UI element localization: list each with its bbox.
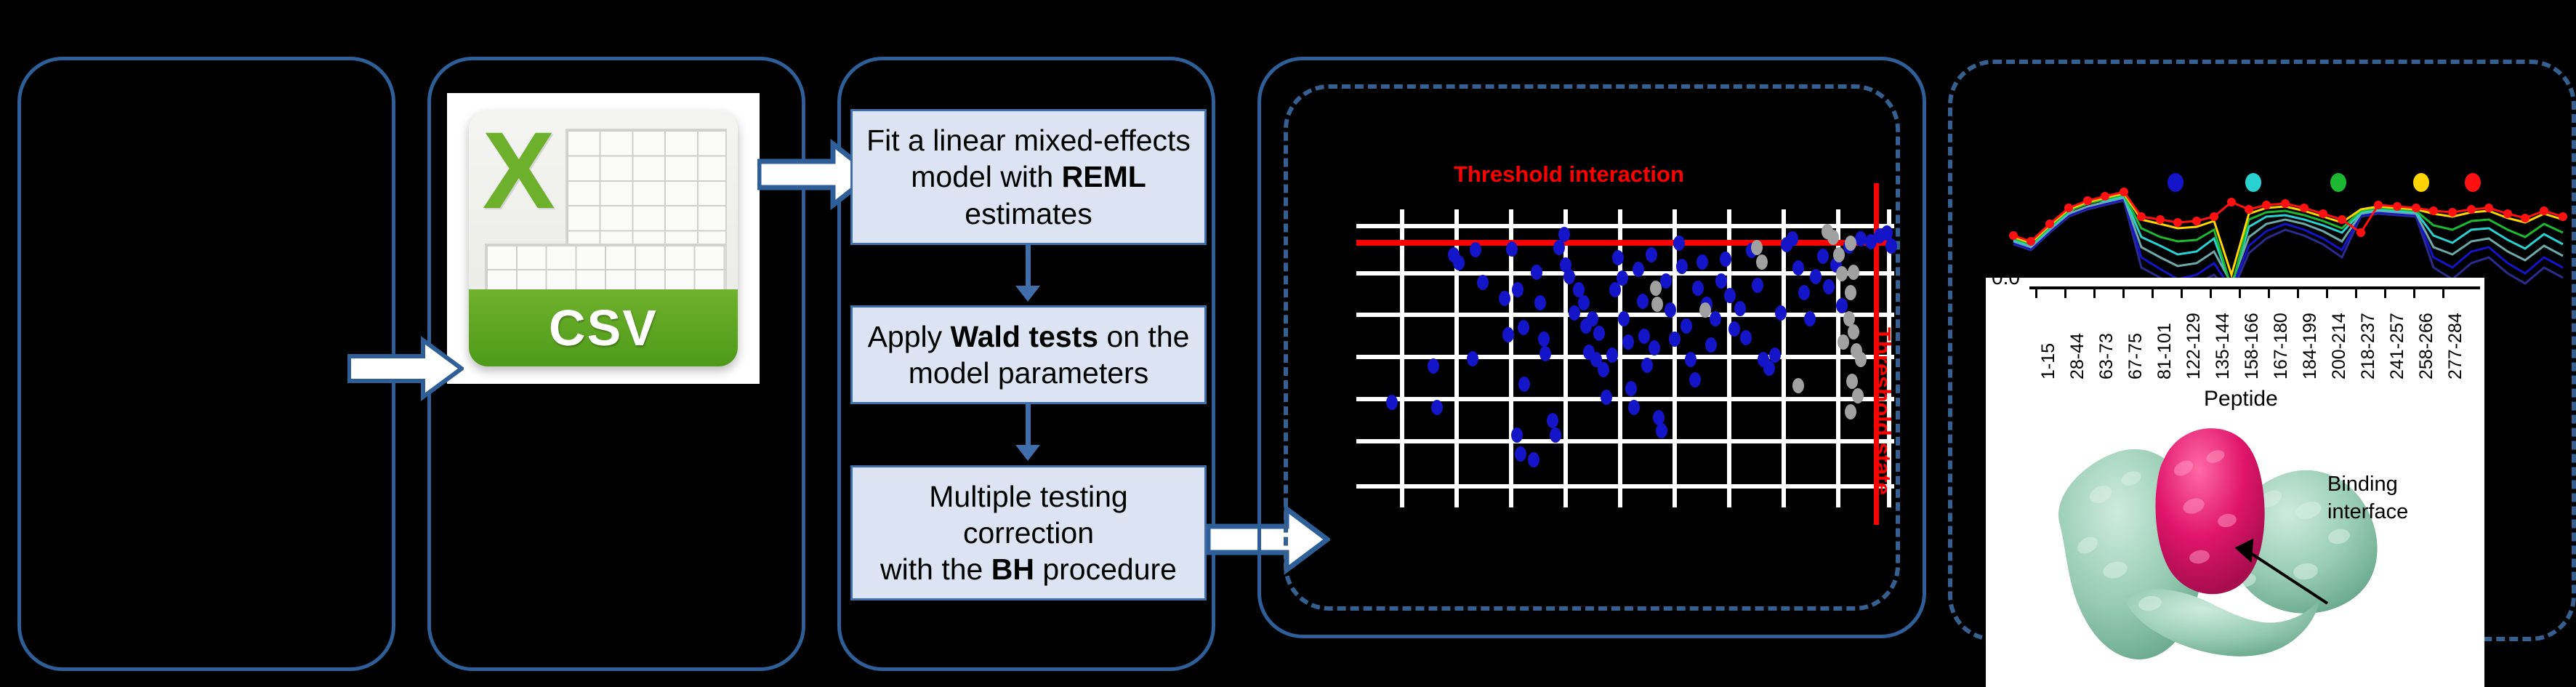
scatter-plot [1356,209,1894,507]
data-point [1477,275,1489,290]
data-point [1660,273,1672,289]
data-point [1470,242,1481,257]
legend-dot-yellow [2413,173,2429,192]
data-point [1518,377,1530,392]
csv-label-band: CSV [469,289,738,366]
data-point-grey [1845,285,1856,300]
data-point [1715,273,1727,289]
data-point-grey [1845,236,1856,251]
legend-dot-green [2330,173,2346,192]
data-point [1637,294,1649,309]
ligand-surface [2156,428,2265,594]
x-axis-tick [2152,288,2154,298]
data-point [1539,346,1551,361]
data-point [1431,400,1443,415]
x-axis-tick-label: 28-44 [2067,333,2088,379]
x-axis-tick-label: 241-257 [2387,313,2408,379]
step-wald-text-b: Wald tests [951,320,1099,353]
data-point [1817,249,1829,264]
x-axis-tick-label: 135-144 [2213,313,2234,379]
threshold-interaction-line [1356,240,1894,246]
data-point [1428,358,1439,374]
scatter-gridlines [1356,209,1894,507]
data-point [1681,318,1692,334]
data-point [1618,311,1630,326]
data-point [1885,238,1897,254]
step-bh-text-c: BH [991,553,1034,586]
data-point [1511,427,1523,443]
data-point [1453,255,1465,270]
data-point [1720,252,1731,267]
data-point [1512,282,1524,297]
data-point [1740,330,1752,345]
data-point [1685,352,1696,367]
gridline-v [1400,209,1404,507]
data-point [1641,358,1653,373]
data-point [1569,305,1580,321]
data-point [1676,259,1688,274]
x-axis-tick [2297,288,2299,298]
data-point-grey [1845,404,1856,419]
csv-caption: CSV [549,299,658,357]
panel-input-empty [17,57,395,671]
x-axis-tick-label: 200-214 [2329,313,2350,379]
data-point [1705,337,1717,353]
data-point [1673,236,1685,251]
gridline-h [1356,355,1894,359]
data-point [1728,321,1740,337]
data-point [1752,278,1763,293]
data-point [1550,427,1561,443]
series-cyan [2013,196,2563,286]
data-point [1538,332,1550,347]
x-axis-tick [2413,288,2415,298]
step-bh-text: Multiple testing correction with the BH … [860,478,1197,587]
data-point [1612,250,1624,265]
data-point [1810,269,1822,284]
legend-dot-cyan [2245,173,2261,192]
data-point [1665,302,1676,318]
gridline-v [1782,209,1786,507]
data-point [1649,340,1660,355]
data-point [1386,395,1398,410]
data-point-grey [1651,297,1663,312]
legend-dot-red [2465,173,2481,192]
data-point [1534,295,1546,310]
data-point-grey [1699,302,1711,318]
x-axis-tick-label: 158-166 [2242,313,2263,379]
x-axis-tick-label: 81-101 [2154,323,2175,379]
data-point [1499,291,1510,306]
data-point [1518,320,1529,335]
data-point [1531,265,1542,280]
data-point [1787,231,1798,246]
data-point [1724,288,1736,303]
data-point [1689,372,1701,387]
data-point [1769,347,1781,363]
data-point [1823,279,1835,294]
connector-model-to-wald [1026,245,1031,290]
x-axis-tick [2384,288,2386,298]
data-point [1502,327,1514,342]
data-point-grey [1855,352,1867,367]
data-point [1598,362,1609,377]
x-axis-tick [2122,288,2125,298]
x-axis-tick [2355,288,2357,298]
x-axis-tick-label: 122-129 [2183,313,2205,379]
data-point-grey [1792,378,1804,393]
data-point [1763,361,1775,376]
csv-file-icon: X CSV [447,93,760,384]
peptide-protein-card: 0.0 1-1528-4463-7367-7581-101122-129135-… [1986,278,2484,687]
data-point [1553,240,1565,255]
data-point-grey [1846,374,1858,389]
step-model-text-c: estimates [965,197,1092,230]
gridline-h [1356,224,1894,228]
data-point [1625,381,1637,396]
data-point-grey [1848,324,1859,340]
step-bh-text-a: Multiple testing correction [929,480,1127,550]
gridline-h [1356,484,1894,489]
connector-model-to-wald-arrowhead [1015,286,1040,302]
data-point [1734,301,1746,316]
x-axis-title: Peptide [2204,387,2278,411]
data-point [1601,390,1612,405]
step-model-text-b: REML [1062,160,1146,193]
data-point-grey [1827,230,1839,245]
data-point [1563,269,1575,284]
x-axis-tick-label: 63-73 [2096,333,2117,379]
data-point [1646,247,1657,262]
step-wald-text: Apply Wald tests on the model parameters [860,318,1197,391]
x-axis-tick [2210,288,2212,298]
x-axis-tick-label: 184-199 [2300,313,2321,379]
data-point [1692,281,1704,296]
scatter-threshold-interaction-label: Threshold interaction [1454,161,1684,188]
x-axis-tick-label: 1-15 [2038,343,2059,379]
data-point [1804,311,1816,326]
data-point-grey [1751,240,1763,255]
x-axis-tick [2064,288,2066,298]
x-axis-tick [2268,288,2270,298]
gridline-v [1673,209,1677,507]
data-point-grey [1756,254,1768,270]
data-point [1622,334,1634,350]
binding-interface-label-line2: interface [2327,499,2408,526]
data-point [1638,329,1650,344]
arrow-input-to-csv [347,336,464,401]
data-point [1578,295,1590,310]
data-point [1506,241,1518,257]
data-point [1633,262,1644,277]
x-axis-tick-label: 167-180 [2271,313,2292,379]
x-axis-tick-label: 258-266 [2416,313,2437,379]
step-bh-correction[interactable]: Multiple testing correction with the BH … [850,465,1207,600]
protein-surface-render [2015,409,2422,685]
step-model-text: Fit a linear mixed-effects model with RE… [860,122,1197,231]
scatter-threshold-state-label: Threshold state [1869,327,1896,495]
series-blue [2013,199,2563,289]
data-point [1775,305,1787,321]
data-point-grey [1836,266,1848,281]
step-wald-tests[interactable]: Apply Wald tests on the model parameters [850,305,1207,404]
step-linear-mixed-model[interactable]: Fit a linear mixed-effects model with RE… [850,109,1207,245]
data-point [1515,446,1526,462]
data-point [1606,347,1618,363]
data-point-grey [1848,265,1859,280]
connector-wald-to-bh [1026,404,1031,449]
data-point [1836,298,1848,313]
legend-dot-blue [2168,173,2183,192]
step-bh-text-b: with the [880,553,991,586]
x-axis-tick-labels: 1-1528-4463-7367-7581-101122-129135-1441… [1986,278,2484,394]
x-axis-tick [2326,288,2328,298]
x-axis-tick [2239,288,2241,298]
x-axis-tick [2181,288,2183,298]
data-point-grey [1852,388,1864,403]
data-point [1617,270,1628,286]
binding-interface-label: Binding interface [2327,471,2408,526]
data-point [1467,351,1478,366]
csv-tile: X CSV [469,111,738,366]
step-wald-text-a: Apply [868,320,951,353]
data-point [1558,227,1570,242]
step-bh-text-d: procedure [1034,553,1177,586]
excel-x-letter: X [483,116,555,225]
data-point [1547,413,1558,428]
data-point [1587,311,1598,326]
data-point [1669,332,1681,347]
x-axis-tick [2442,288,2444,298]
data-point [1528,452,1539,467]
data-point [1696,254,1708,270]
data-point-grey [1650,281,1662,296]
gridline-h [1356,439,1894,443]
data-point-grey [1833,247,1845,262]
data-point [1710,311,1721,326]
x-axis-tick [2035,288,2037,298]
x-axis-tick-label: 277-284 [2445,313,2466,379]
x-axis-tick-label: 67-75 [2125,333,2146,379]
data-point [1798,285,1810,300]
flowchart-stage: X CSV Fit a linear mixed-effects model w… [0,0,2576,687]
connector-wald-to-bh-arrowhead [1015,445,1040,461]
binding-interface-label-line1: Binding [2327,471,2408,499]
data-point [1792,260,1804,276]
data-point-grey [1838,334,1849,350]
data-point [1628,400,1640,415]
gridline-v [1563,209,1568,507]
x-axis-tick-label: 218-237 [2358,313,2379,379]
data-point [1593,326,1605,341]
x-axis-tick [2093,288,2096,298]
data-point [1656,423,1667,438]
